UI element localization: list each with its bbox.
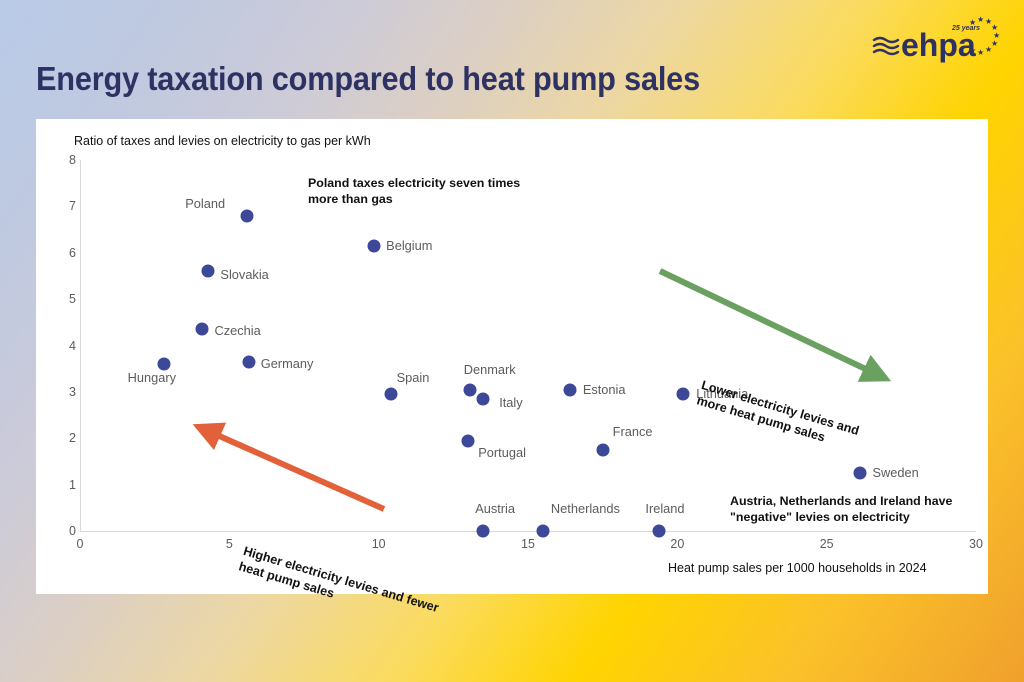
green-trend-arrow: [660, 271, 876, 374]
data-point-denmark[interactable]: [463, 383, 476, 396]
y-tick-7: 7: [58, 199, 76, 213]
y-tick-6: 6: [58, 246, 76, 260]
data-label-poland: Poland: [185, 196, 225, 211]
data-label-denmark: Denmark: [464, 362, 516, 377]
data-point-czechia[interactable]: [196, 323, 209, 336]
data-label-netherlands: Netherlands: [551, 501, 620, 516]
data-label-hungary: Hungary: [128, 370, 176, 385]
x-axis-line: [80, 531, 976, 532]
y-tick-0: 0: [58, 524, 76, 538]
y-tick-8: 8: [58, 153, 76, 167]
chart-card: Ratio of taxes and levies on electricity…: [36, 119, 988, 594]
svg-text:★: ★: [977, 48, 984, 57]
data-label-sweden: Sweden: [873, 465, 919, 480]
data-point-portugal[interactable]: [462, 434, 475, 447]
data-label-belgium: Belgium: [386, 238, 432, 253]
data-label-portugal: Portugal: [478, 445, 526, 460]
data-label-slovakia: Slovakia: [220, 267, 268, 282]
x-tick-5: 5: [226, 537, 233, 551]
data-point-hungary[interactable]: [157, 358, 170, 371]
orange-arrow-note: Higher electricity levies and fewer heat…: [237, 543, 441, 632]
data-point-germany[interactable]: [242, 355, 255, 368]
svg-text:★: ★: [969, 46, 976, 55]
x-tick-30: 30: [969, 537, 983, 551]
page-title: Energy taxation compared to heat pump sa…: [36, 60, 700, 98]
svg-text:★: ★: [977, 16, 984, 24]
green-arrow-note: Lower electricity levies and more heat p…: [695, 377, 861, 455]
y-tick-1: 1: [58, 478, 76, 492]
orange-trend-arrow: [208, 431, 384, 509]
data-label-italy: Italy: [499, 395, 522, 410]
data-label-france: France: [613, 424, 653, 439]
y-tick-3: 3: [58, 385, 76, 399]
data-point-slovakia[interactable]: [202, 265, 215, 278]
data-label-austria: Austria: [475, 501, 515, 516]
data-point-sweden[interactable]: [853, 467, 866, 480]
y-axis-line: [80, 160, 81, 531]
x-tick-20: 20: [670, 537, 684, 551]
data-point-belgium[interactable]: [368, 239, 381, 252]
negative-levies-callout: Austria, Netherlands and Ireland have "n…: [730, 494, 952, 526]
y-axis-title: Ratio of taxes and levies on electricity…: [74, 134, 371, 148]
x-tick-0: 0: [77, 537, 84, 551]
data-label-germany: Germany: [261, 356, 314, 371]
logo-wordmark: ehpa: [901, 27, 976, 63]
data-point-ireland[interactable]: [653, 525, 666, 538]
data-point-netherlands[interactable]: [536, 525, 549, 538]
scatter-plot: Ratio of taxes and levies on electricity…: [36, 119, 988, 594]
data-point-poland[interactable]: [241, 209, 254, 222]
data-label-ireland: Ireland: [645, 501, 684, 516]
data-label-estonia: Estonia: [583, 382, 626, 397]
data-point-italy[interactable]: [477, 392, 490, 405]
data-label-czechia: Czechia: [214, 323, 260, 338]
x-axis-title: Heat pump sales per 1000 households in 2…: [668, 561, 927, 575]
data-point-lithuania[interactable]: [677, 388, 690, 401]
y-tick-5: 5: [58, 292, 76, 306]
y-tick-2: 2: [58, 431, 76, 445]
data-point-spain[interactable]: [384, 388, 397, 401]
data-point-france[interactable]: [596, 443, 609, 456]
data-point-austria[interactable]: [477, 525, 490, 538]
wave-lines-icon: [874, 38, 898, 54]
y-tick-4: 4: [58, 339, 76, 353]
data-label-spain: Spain: [397, 370, 430, 385]
svg-text:★: ★: [969, 18, 976, 27]
x-tick-10: 10: [372, 537, 386, 551]
ehpa-logo: ehpa 25 years ★ ★ ★ ★ ★ ★ ★ ★ ★: [872, 16, 1002, 64]
x-tick-15: 15: [521, 537, 535, 551]
data-point-estonia[interactable]: [563, 383, 576, 396]
x-tick-25: 25: [820, 537, 834, 551]
poland-callout: Poland taxes electricity seven times mor…: [308, 176, 520, 208]
svg-text:★: ★: [985, 45, 992, 54]
